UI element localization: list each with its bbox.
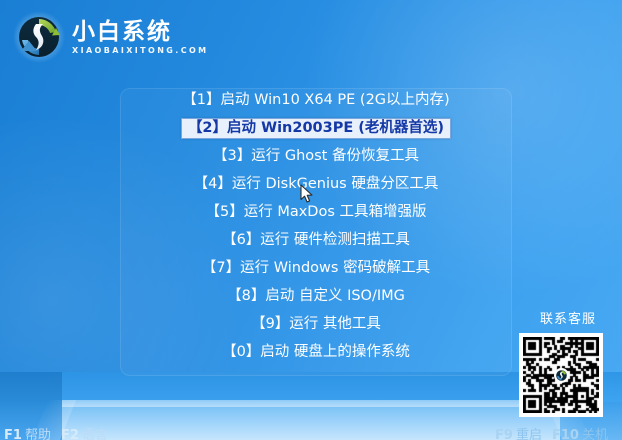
brand-name-cn: 小白系统 [72, 19, 209, 45]
brand-name-en: XIAOBAIXITONG.COM [72, 45, 209, 56]
boot-menu-item-label: 【3】运行 Ghost 备份恢复工具 [206, 146, 426, 167]
boot-menu-item-label: 【0】启动 硬盘上的操作系统 [215, 342, 417, 363]
stage-back-left [0, 372, 64, 402]
boot-menu-item-label: 【9】运行 其他工具 [244, 314, 388, 335]
stage-back-panel [62, 372, 560, 402]
hotkey-f9-key: F9 [495, 428, 513, 440]
qr-code[interactable] [519, 333, 603, 417]
boot-menu-item-label: 【4】运行 DiskGenius 硬盘分区工具 [187, 174, 446, 195]
hotkey-f1-key: F1 [4, 428, 22, 440]
boot-menu-item-label: 【6】运行 硬件检测扫描工具 [215, 230, 417, 251]
contact-support-label: 联系客服 [540, 308, 596, 327]
boot-menu-item-8[interactable]: 【8】启动 自定义 ISO/IMG [120, 286, 512, 307]
hotkey-f1-label: 帮助 [25, 428, 51, 440]
boot-menu-item-5[interactable]: 【5】运行 MaxDos 工具箱增强版 [120, 202, 512, 223]
hotkey-f2-key: F2 [61, 428, 79, 440]
boot-menu-item-7[interactable]: 【7】运行 Windows 密码破解工具 [120, 258, 512, 279]
boot-menu-item-label: 【5】运行 MaxDos 工具箱增强版 [198, 202, 433, 223]
boot-menu-item-10[interactable]: 【0】启动 硬盘上的操作系统 [120, 342, 512, 363]
boot-menu-item-9[interactable]: 【9】运行 其他工具 [120, 314, 512, 335]
brand-logo: 小白系统 XIAOBAIXITONG.COM [12, 10, 209, 64]
hotkey-f9-label: 重启 [516, 428, 542, 440]
hotkeys-left: F1帮助F2语言 [4, 424, 118, 440]
boot-menu-item-label: 【2】启动 Win2003PE (老机器首选) [181, 118, 451, 139]
boot-menu-item-1[interactable]: 【1】启动 Win10 X64 PE (2G以上内存) [120, 90, 512, 111]
boot-menu-item-label: 【8】启动 自定义 ISO/IMG [220, 286, 412, 307]
boot-menu-item-2[interactable]: 【2】启动 Win2003PE (老机器首选) [120, 118, 512, 139]
boot-menu-screen: 小白系统 XIAOBAIXITONG.COM 【1】启动 Win10 X64 P… [0, 0, 622, 440]
boot-menu-item-3[interactable]: 【3】运行 Ghost 备份恢复工具 [120, 146, 512, 167]
recycle-arrow-icon [12, 10, 66, 64]
stage-front-face [62, 407, 560, 440]
boot-menu-item-label: 【1】启动 Win10 X64 PE (2G以上内存) [175, 90, 456, 111]
hotkeys-right: F9重启F10关机 [495, 424, 618, 440]
boot-menu-item-4[interactable]: 【4】运行 DiskGenius 硬盘分区工具 [120, 174, 512, 195]
qr-center-logo-icon [554, 368, 569, 383]
boot-menu-item-label: 【7】运行 Windows 密码破解工具 [195, 258, 437, 279]
hotkey-f10-label: 关机 [582, 428, 608, 440]
hotkey-f10-key: F10 [552, 428, 579, 440]
boot-menu-item-6[interactable]: 【6】运行 硬件检测扫描工具 [120, 230, 512, 251]
boot-menu-list: 【1】启动 Win10 X64 PE (2G以上内存)【2】启动 Win2003… [120, 90, 512, 370]
hotkey-f2-label: 语言 [82, 428, 108, 440]
